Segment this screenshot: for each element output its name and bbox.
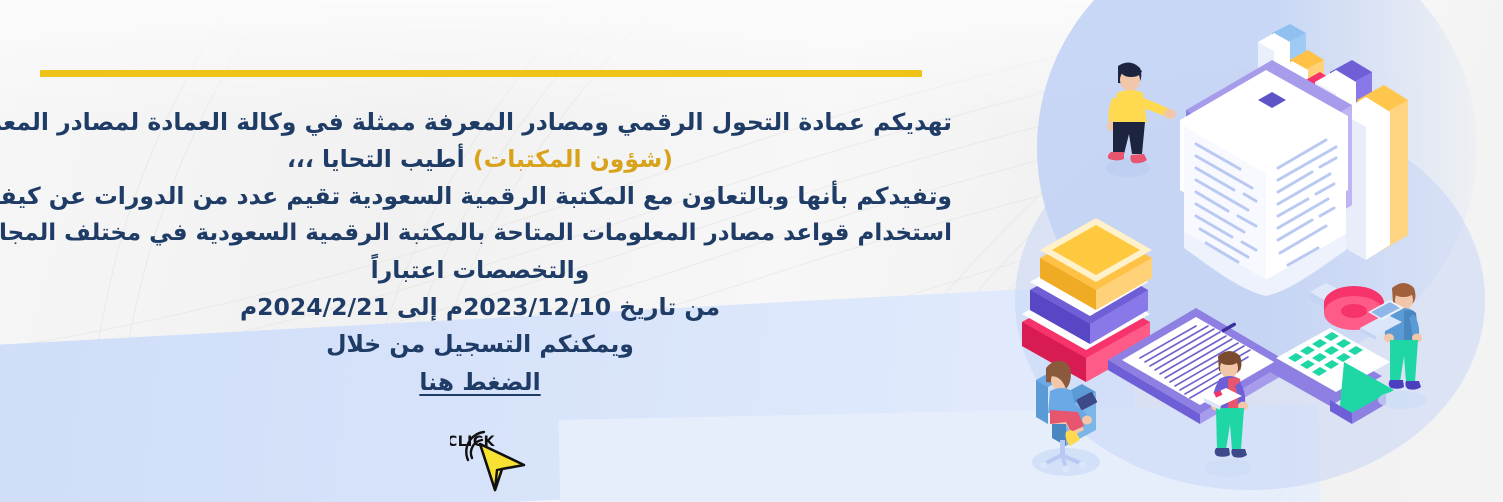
- copy-line-3: وتفيدكم بأنها وبالتعاون مع المكتبة الرقم…: [8, 178, 952, 215]
- registration-link-line: الضغط هنا: [8, 363, 952, 401]
- announcement-copy: تهديكم عمادة التحول الرقمي ومصادر المعرف…: [8, 104, 952, 401]
- copy-line-1: تهديكم عمادة التحول الرقمي ومصادر المعرف…: [8, 104, 952, 141]
- copy-line-2-rest: أطيب التحايا ،،،: [287, 145, 473, 173]
- copy-line-5: والتخصصات اعتباراً: [8, 252, 952, 289]
- gold-divider: [40, 70, 922, 77]
- announcement-banner: تهديكم عمادة التحول الرقمي ومصادر المعرف…: [0, 0, 1503, 502]
- cursor-arrow-icon: [480, 444, 524, 490]
- copy-line-2-highlight: (شؤون المكتبات): [473, 145, 673, 173]
- content-column: تهديكم عمادة التحول الرقمي ومصادر المعرف…: [0, 0, 960, 502]
- registration-link[interactable]: الضغط هنا: [419, 368, 540, 396]
- copy-line-6-dates: من تاريخ 2023/12/10م إلى 2024/2/21م: [8, 289, 952, 326]
- copy-line-7: ويمكنكم التسجيل من خلال: [8, 326, 952, 363]
- open-book: [1180, 60, 1352, 296]
- click-here-badge[interactable]: CLICK!: [450, 418, 540, 492]
- isometric-library-illustration: [1000, 0, 1503, 502]
- copy-line-4: استخدام قواعد مصادر المعلومات المتاحة با…: [8, 215, 952, 252]
- copy-line-2: (شؤون المكتبات) أطيب التحايا ،،،: [8, 141, 952, 178]
